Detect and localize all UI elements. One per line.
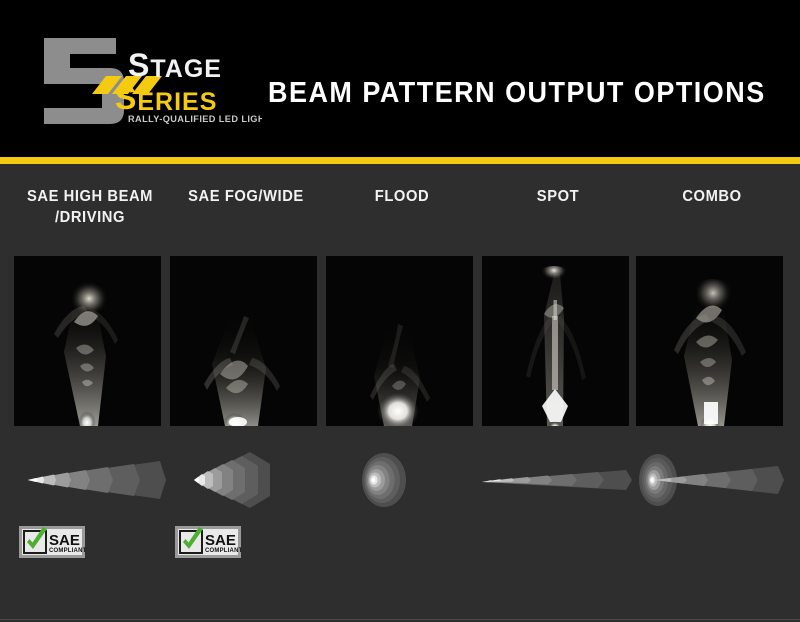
beam-column-spot: SPOT <box>482 164 634 622</box>
column-label-line-1: SAE FOG/WIDE <box>166 186 326 207</box>
bottom-hairline <box>0 619 800 620</box>
sae-compliant-badge: SAE COMPLIANT <box>19 526 85 558</box>
beam-shape-diagram-flood <box>322 444 482 516</box>
beam-photo-combo <box>636 256 783 426</box>
column-label-line-2: /DRIVING <box>10 207 170 228</box>
badge-title: SAE <box>49 532 80 549</box>
beam-photo-flood <box>326 256 473 426</box>
column-label-line-1: COMBO <box>632 186 792 207</box>
content-area: SAE HIGH BEAM /DRIVING <box>0 164 800 622</box>
brand-logo: STAGE SERIES RALLY-QUALIFIED LED LIGHTIN… <box>22 28 262 133</box>
beam-shape-diagram-combo <box>632 444 792 516</box>
beam-shape-diagram-fog-wide <box>166 444 326 516</box>
logo-tagline: RALLY-QUALIFIED LED LIGHTING <box>128 114 262 124</box>
column-label: FLOOD <box>322 186 482 207</box>
beam-photo-sae-high-beam-driving <box>14 256 161 426</box>
column-label: SAE FOG/WIDE <box>166 186 326 207</box>
logo-word-series: SERIES <box>115 80 217 116</box>
beam-pattern-columns: SAE HIGH BEAM /DRIVING <box>0 164 800 622</box>
beam-photo-spot <box>482 256 629 426</box>
beam-photo-sae-fog-wide <box>170 256 317 426</box>
badge-title: SAE <box>205 532 236 549</box>
column-label-line-1: SAE HIGH BEAM <box>10 186 170 207</box>
column-label-line-1: FLOOD <box>322 186 482 207</box>
beam-column-sae-high-beam-driving: SAE HIGH BEAM /DRIVING <box>14 164 166 622</box>
badge-subtitle: COMPLIANT <box>205 548 241 554</box>
beam-column-sae-fog-wide: SAE FOG/WIDE <box>170 164 322 622</box>
beam-shape-diagram-spot <box>478 444 638 516</box>
sae-compliant-badge: SAE COMPLIANT <box>175 526 241 558</box>
beam-pattern-infographic: STAGE SERIES RALLY-QUALIFIED LED LIGHTIN… <box>0 0 800 622</box>
header-bar: STAGE SERIES RALLY-QUALIFIED LED LIGHTIN… <box>0 0 800 157</box>
column-label: SPOT <box>478 186 638 207</box>
column-label: SAE HIGH BEAM /DRIVING <box>10 186 170 228</box>
beam-column-flood: FLOOD <box>326 164 478 622</box>
column-label-line-1: SPOT <box>478 186 638 207</box>
beam-shape-diagram-driving <box>10 444 170 516</box>
column-label: COMBO <box>632 186 792 207</box>
logo-word-stage: STAGE <box>128 47 222 83</box>
badge-subtitle: COMPLIANT <box>49 548 85 554</box>
page-title: BEAM PATTERN OUTPUT OPTIONS <box>268 76 752 110</box>
accent-divider <box>0 157 800 164</box>
beam-column-combo: COMBO <box>636 164 788 622</box>
